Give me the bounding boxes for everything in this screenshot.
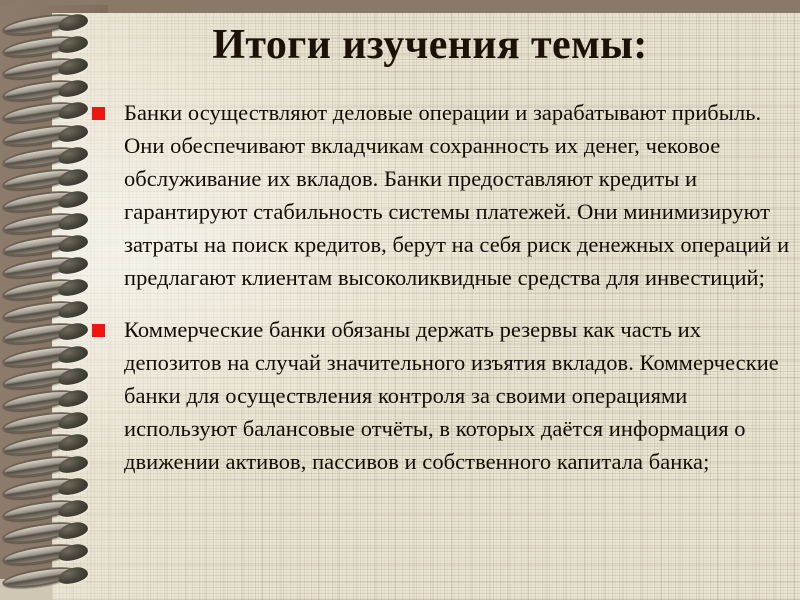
page-title: Итоги изучения темы: bbox=[120, 20, 740, 70]
list-item-text: Банки осуществляют деловые операции и за… bbox=[124, 96, 792, 294]
list-item: Коммерческие банки обязаны держать резер… bbox=[92, 313, 792, 478]
red-square-bullet-icon bbox=[92, 107, 105, 120]
slide-content: Итоги изучения темы: Банки осуществляют … bbox=[0, 0, 800, 600]
notebook-slide: Итоги изучения темы: Банки осуществляют … bbox=[0, 0, 800, 600]
list-item-text: Коммерческие банки обязаны держать резер… bbox=[124, 313, 792, 478]
bullet-list: Банки осуществляют деловые операции и за… bbox=[92, 96, 792, 490]
red-square-bullet-icon bbox=[92, 324, 105, 337]
list-item: Банки осуществляют деловые операции и за… bbox=[92, 96, 792, 294]
